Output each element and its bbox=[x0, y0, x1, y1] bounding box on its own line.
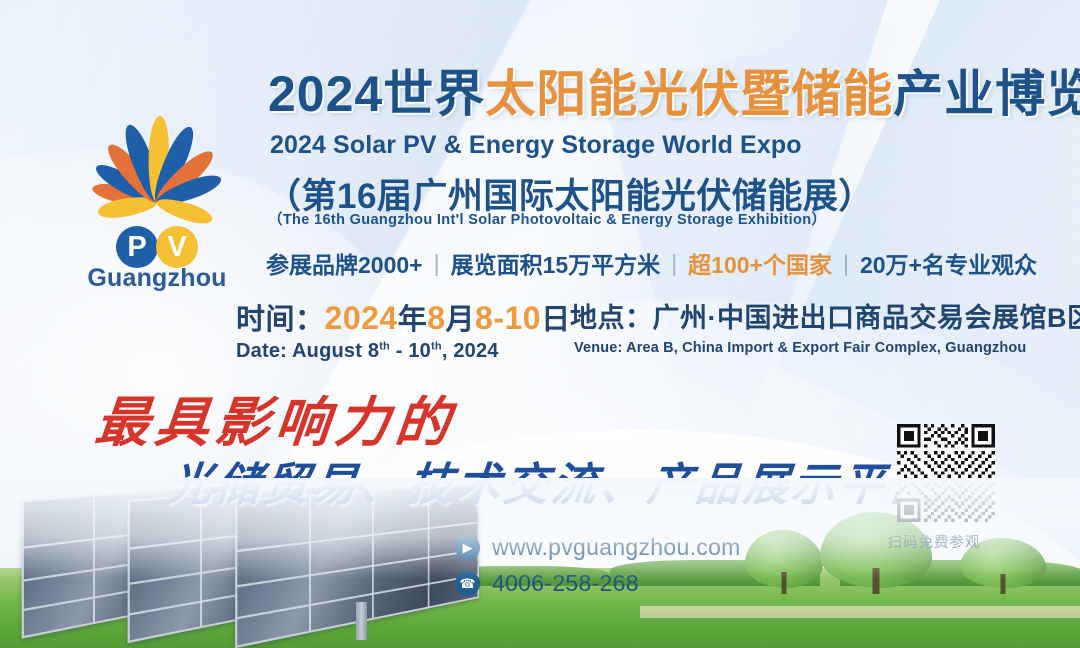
venue-chinese: 地点：广州·中国进出口商品交易会展馆B区 bbox=[570, 296, 1080, 335]
logo-letter-v: V bbox=[156, 226, 198, 268]
panel-gridline bbox=[93, 497, 95, 623]
venue-name-cn: 广州·中国进出口商品交易会展馆B区 bbox=[653, 303, 1080, 333]
title-english: 2024 Solar PV & Energy Storage World Exp… bbox=[270, 131, 802, 160]
date-month: 8 bbox=[427, 300, 445, 336]
stat-item-4: 20万+名专业观众 bbox=[860, 246, 1037, 280]
logo-letter-p: P bbox=[116, 226, 158, 268]
slogan-line-1: 最具影响力的 bbox=[92, 378, 460, 457]
pv-guangzhou-logo: P V Guangzhou bbox=[52, 104, 262, 299]
subtitle-english: （The 16th Guangzhou Int'l Solar Photovol… bbox=[268, 208, 826, 229]
title-part-1: 2024世界 bbox=[268, 66, 485, 122]
date-en-day1: 8 bbox=[368, 340, 379, 362]
phone-row[interactable]: ☎ 4006-258-268 bbox=[455, 570, 741, 597]
venue-english: Venue: Area B, China Import & Export Fai… bbox=[574, 340, 1080, 356]
date-en-mid: - bbox=[390, 340, 408, 362]
stat-separator: | bbox=[843, 250, 849, 277]
date-label: 时间： bbox=[236, 304, 325, 336]
stat-item-3: 超100+个国家 bbox=[688, 246, 832, 280]
tree-trunk bbox=[782, 572, 787, 594]
panel-support-leg bbox=[356, 602, 367, 640]
tree-trunk bbox=[873, 568, 880, 594]
qr-caption: 扫码免费参观 bbox=[885, 531, 983, 552]
website-url[interactable]: www.pvguangzhou.com bbox=[492, 534, 741, 561]
date-en-day2: 10 bbox=[408, 340, 431, 362]
date-day-unit: 日 bbox=[541, 304, 571, 336]
panel-gridline bbox=[309, 497, 311, 631]
date-days: 8-10 bbox=[475, 300, 541, 336]
stats-row: 参展品牌2000+ | 展览面积15万平方米 | 超100+个国家 | 20万+… bbox=[266, 246, 1037, 280]
play-icon: ▶ bbox=[455, 535, 480, 560]
expo-promotional-banner: P V Guangzhou 2024世界太阳能光伏暨储能产业博览会 2024 S… bbox=[0, 0, 1080, 648]
tree-trunk bbox=[1001, 574, 1006, 594]
title-part-3: 产业博览会 bbox=[893, 66, 1080, 122]
stat-separator: | bbox=[434, 250, 440, 277]
stat-item-1: 参展品牌2000+ bbox=[266, 246, 423, 280]
panel-gridline bbox=[237, 521, 477, 551]
page-title: 2024世界太阳能光伏暨储能产业博览会 bbox=[268, 68, 1080, 121]
website-row[interactable]: ▶ www.pvguangzhou.com bbox=[455, 534, 741, 561]
date-en-suffix: , 2024 bbox=[442, 340, 499, 362]
contact-info: ▶ www.pvguangzhou.com ☎ 4006-258-268 bbox=[455, 534, 741, 606]
qr-code-icon[interactable] bbox=[897, 424, 995, 522]
field-path bbox=[640, 606, 1080, 618]
date-en-sup1: th bbox=[379, 340, 390, 352]
panel-gridline bbox=[200, 497, 202, 627]
date-en-prefix: Date: August bbox=[236, 340, 368, 362]
date-month-unit: 月 bbox=[446, 304, 476, 336]
stat-separator: | bbox=[671, 250, 677, 277]
phone-number[interactable]: 4006-258-268 bbox=[492, 570, 639, 597]
date-year: 2024 bbox=[325, 300, 398, 336]
logo-city-name: Guangzhou bbox=[87, 264, 226, 293]
date-chinese: 时间：2024年8月8-10日 bbox=[236, 296, 571, 338]
event-date-block: 时间：2024年8月8-10日 Date: August 8th - 10th,… bbox=[236, 296, 571, 363]
stat-item-2: 展览面积15万平方米 bbox=[451, 246, 661, 280]
venue-label: 地点： bbox=[570, 303, 653, 333]
date-english: Date: August 8th - 10th, 2024 bbox=[236, 340, 571, 363]
logo-pv-mark: P V bbox=[116, 226, 198, 268]
title-part-2: 太阳能光伏暨储能 bbox=[485, 66, 893, 122]
phone-icon: ☎ bbox=[455, 571, 480, 596]
slogan-line-2: 光储贸易、技术交流、产品展示平台! bbox=[165, 448, 963, 513]
qr-code-block: 扫码免费参观 bbox=[897, 424, 995, 552]
tree bbox=[745, 530, 823, 588]
date-year-unit: 年 bbox=[398, 304, 428, 336]
date-en-sup2: th bbox=[431, 340, 442, 352]
event-venue-block: 地点：广州·中国进出口商品交易会展馆B区 Venue: Area B, Chin… bbox=[570, 296, 1080, 356]
